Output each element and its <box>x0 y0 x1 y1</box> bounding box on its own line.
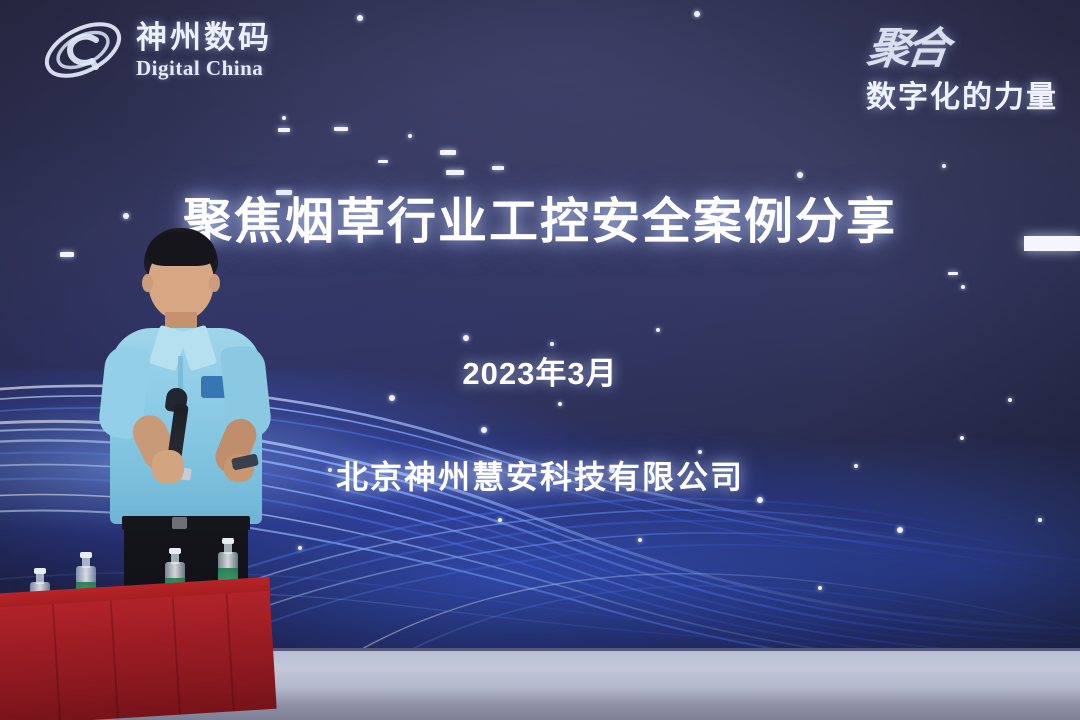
presenter-ear-right <box>209 274 220 292</box>
conference-stage-photo: 神州数码 Digital China 聚合 数字化的力量 聚焦烟草行业工控安全案… <box>0 0 1080 720</box>
particle-dash <box>440 150 456 155</box>
conference-table <box>0 594 270 720</box>
bottle-neck <box>171 553 179 564</box>
presenter-hand-left <box>152 450 184 484</box>
bottle-neck <box>224 543 232 554</box>
bottle-neck <box>36 573 44 584</box>
presenter-ear-left <box>142 274 153 292</box>
particle-dash <box>492 166 504 170</box>
brand-name-cn: 神州数码 <box>136 22 272 53</box>
skirt-fold <box>110 601 119 719</box>
particle-dash <box>334 127 348 131</box>
particle-dot <box>797 172 803 178</box>
particle-dash <box>378 160 388 163</box>
digital-china-logo: 神州数码 Digital China <box>40 16 272 84</box>
particle-dot <box>942 164 946 168</box>
particle-dot <box>694 11 700 17</box>
presenter <box>96 228 276 628</box>
particle-dot <box>357 15 363 21</box>
skirt-fold <box>52 604 61 720</box>
skirt-fold <box>172 597 181 715</box>
event-calligraphy: 聚合 <box>862 14 950 76</box>
particle-dot <box>408 134 412 138</box>
particle-dash <box>948 272 958 275</box>
event-logo: 聚合 数字化的力量 <box>866 14 1058 116</box>
event-slogan: 数字化的力量 <box>866 72 1058 116</box>
skirt-fold <box>226 593 235 711</box>
brand-name-en: Digital China <box>136 58 272 79</box>
bottle-neck <box>82 557 90 568</box>
particle-dash <box>446 170 464 175</box>
screen-edge-accent-bar <box>1024 236 1080 251</box>
table-skirt <box>0 591 277 720</box>
particle-dot <box>961 285 965 289</box>
swirl-icon <box>40 16 126 84</box>
presenter-hair-top <box>146 232 216 266</box>
particle-dot <box>282 116 286 120</box>
presenter-belt-buckle <box>172 517 187 529</box>
particle-dash <box>278 128 290 132</box>
